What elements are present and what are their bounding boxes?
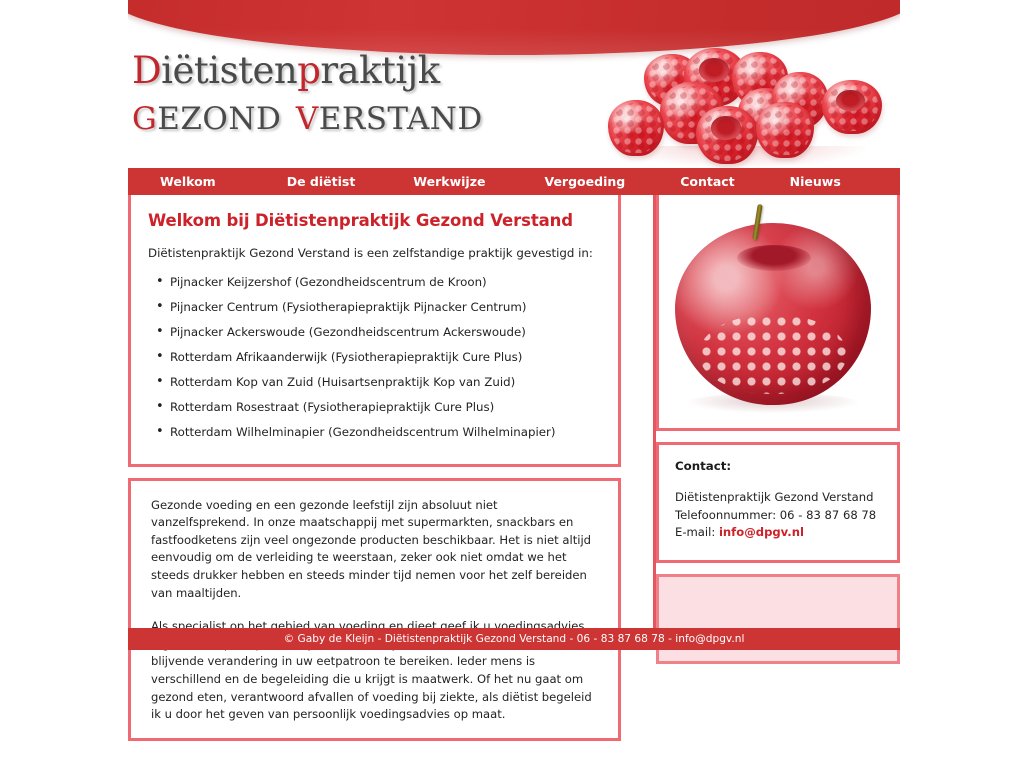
contact-practice-name: Diëtistenpraktijk Gezond Verstand — [675, 489, 881, 507]
contact-phone: Telefoonnummer: 06 - 83 87 68 78 — [675, 507, 881, 525]
locations-list: Pijnacker Keijzershof (Gezondheidscentru… — [148, 274, 603, 450]
apple-photo-panel — [656, 195, 900, 431]
nav-item-de-dietist[interactable]: De diëtist — [287, 174, 356, 189]
apple-dimple — [737, 245, 811, 271]
contact-email-row: E-mail: info@dpgv.nl — [675, 524, 881, 542]
list-item: Rotterdam Afrikaanderwijk (Fysiotherapie… — [170, 349, 603, 374]
about-panel: Gezonde voeding en een gezonde leefstijl… — [128, 478, 621, 741]
sidebar-column: Contact: Diëtistenpraktijk Gezond Versta… — [656, 195, 900, 664]
page-root: Diëtistenpraktijk Gezond Verstand Welkom… — [0, 0, 1024, 768]
footer-text: © Gaby de Kleijn - Diëtistenpraktijk Gez… — [284, 633, 745, 645]
nav-item-contact[interactable]: Contact — [680, 174, 734, 189]
site-logo[interactable]: Diëtistenpraktijk Gezond Verstand — [132, 52, 483, 137]
list-item: Rotterdam Rosestraat (Fysiotherapieprakt… — [170, 399, 603, 424]
apple-body — [675, 223, 871, 405]
contact-title: Contact: — [675, 459, 881, 473]
raspberries-photo — [600, 18, 900, 168]
page-title: Welkom bij Diëtistenpraktijk Gezond Vers… — [148, 211, 603, 231]
list-item: Pijnacker Centrum (Fysiotherapiepraktijk… — [170, 299, 603, 324]
site-header: Diëtistenpraktijk Gezond Verstand — [128, 0, 900, 168]
list-item: Rotterdam Kop van Zuid (Huisartsenprakti… — [170, 374, 603, 399]
main-column: Welkom bij Diëtistenpraktijk Gezond Vers… — [128, 195, 653, 741]
list-item: Rotterdam Wilhelminapier (Gezondheidscen… — [170, 424, 603, 449]
contact-panel: Contact: Diëtistenpraktijk Gezond Versta… — [656, 442, 900, 563]
content-area: Welkom bij Diëtistenpraktijk Gezond Vers… — [128, 195, 900, 628]
red-apple-photo — [659, 195, 897, 428]
contact-email-link[interactable]: info@dpgv.nl — [719, 525, 804, 539]
raspberry-7 — [608, 100, 664, 156]
nav-item-welkom[interactable]: Welkom — [160, 174, 216, 189]
welcome-panel: Welkom bij Diëtistenpraktijk Gezond Vers… — [128, 195, 621, 467]
about-paragraph-1: Gezonde voeding en een gezonde leefstijl… — [151, 497, 598, 603]
raspberry-8 — [696, 106, 758, 164]
list-item: Pijnacker Ackerswoude (Gezondheidscentru… — [170, 324, 603, 349]
nav-item-vergoeding[interactable]: Vergoeding — [544, 174, 625, 189]
intro-text: Diëtistenpraktijk Gezond Verstand is een… — [148, 245, 603, 262]
raspberry-9 — [756, 102, 814, 158]
empty-sidebar-panel — [656, 574, 900, 664]
contact-email-label: E-mail: — [675, 525, 715, 539]
raspberry-10 — [822, 80, 882, 134]
logo-line-2: Gezond Verstand — [132, 93, 483, 137]
logo-line-1: Diëtistenpraktijk — [132, 52, 483, 89]
site-footer: © Gaby de Kleijn - Diëtistenpraktijk Gez… — [128, 628, 900, 650]
nav-item-werkwijze[interactable]: Werkwijze — [413, 174, 485, 189]
main-navigation: Welkom De diëtist Werkwijze Vergoeding C… — [128, 168, 900, 195]
list-item: Pijnacker Keijzershof (Gezondheidscentru… — [170, 274, 603, 299]
nav-item-nieuws[interactable]: Nieuws — [790, 174, 841, 189]
